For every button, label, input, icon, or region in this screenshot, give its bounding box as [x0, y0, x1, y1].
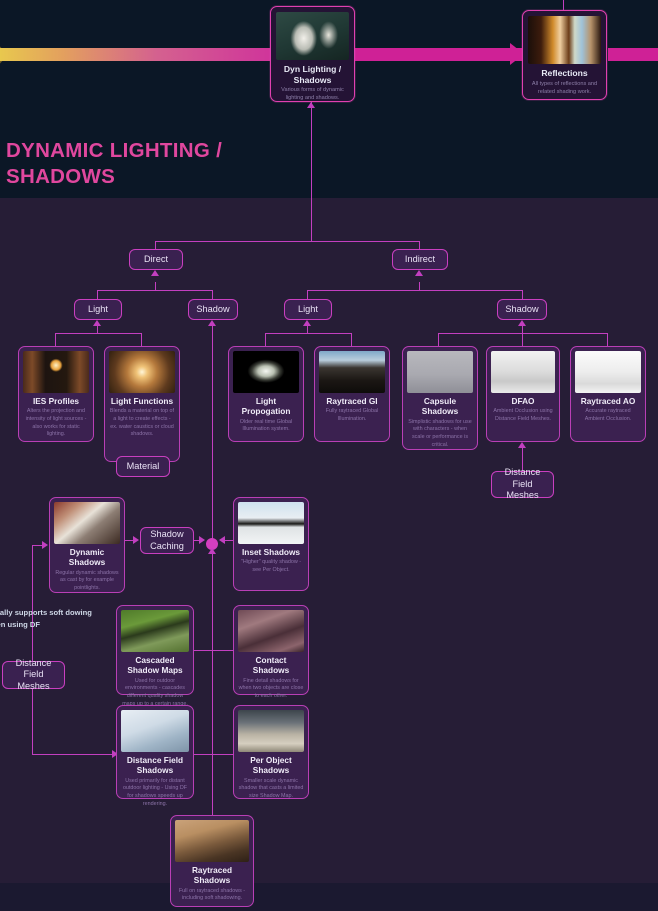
card-title: Per Object Shadows — [238, 755, 304, 776]
card-title: IES Profiles — [23, 396, 89, 406]
card-description: Used for outdoor environments - cascades… — [121, 678, 189, 709]
node-label: Shadow — [505, 304, 538, 316]
card-ies-profiles[interactable]: IES Profiles Alters the projection and i… — [18, 346, 94, 442]
pipeline-segment-outgoing — [608, 48, 658, 61]
card-raytraced-gi[interactable]: Raytraced GI Fully raytraced Global Illu… — [314, 346, 390, 442]
card-description: Alters the projection and intensity of l… — [23, 408, 89, 439]
connector-dl-split — [55, 333, 142, 334]
connector-ies-stem — [55, 333, 56, 346]
card-dynamic-shadows[interactable]: Dynamic Shadows Regular dynamic shadows … — [49, 497, 125, 593]
card-title: Raytraced AO — [575, 396, 641, 406]
node-label: Material — [127, 461, 160, 473]
stage-card-reflections[interactable]: Reflections All types of reflections and… — [522, 10, 607, 100]
card-title: Distance Field Shadows — [121, 755, 189, 776]
card-title: Inset Shadows — [238, 547, 304, 557]
node-indirect-light[interactable]: Light — [284, 299, 332, 320]
connector-il-split — [265, 333, 351, 334]
connector-rtao-stem — [607, 333, 608, 346]
pipeline-segment-incoming — [0, 48, 285, 61]
node-direct-shadow[interactable]: Shadow — [188, 299, 238, 320]
connector-lfn-stem — [141, 333, 142, 346]
contact-shadows-thumb — [238, 610, 304, 652]
node-material[interactable]: Material — [116, 456, 170, 477]
connector-indirect-shadow-stem — [522, 290, 523, 299]
raytraced-shadows-thumb — [175, 820, 249, 862]
dyn-lighting-thumb — [276, 12, 349, 60]
card-title: Raytraced GI — [319, 396, 385, 406]
arrow-up-icon-dot-bottom — [208, 548, 216, 554]
connector-reflections-top — [563, 0, 564, 10]
node-label: Direct — [144, 254, 168, 266]
node-direct[interactable]: Direct — [129, 249, 183, 270]
card-capsule-shadows[interactable]: Capsule Shadows Simplistic shadows for u… — [402, 346, 478, 450]
arrow-left-icon-dot-in — [219, 536, 225, 544]
card-cascaded-shadow-maps[interactable]: Cascaded Shadow Maps Used for outdoor en… — [116, 605, 194, 695]
card-description: Full on raytraced shadows - including so… — [175, 888, 249, 903]
ies-profiles-thumb — [23, 351, 89, 393]
card-inset-shadows[interactable]: Inset Shadows "Higher" quality shadow - … — [233, 497, 309, 591]
dfao-thumb — [491, 351, 555, 393]
arrow-up-icon-direct — [151, 270, 159, 276]
stage-title: Reflections — [528, 68, 601, 79]
card-per-object-shadows[interactable]: Per Object Shadows Smaller scale dynamic… — [233, 705, 309, 799]
dynamic-shadows-thumb — [54, 502, 120, 544]
node-label: Light — [298, 304, 318, 316]
node-label: Light — [88, 304, 108, 316]
node-label: Distance Field Meshes — [496, 467, 549, 502]
page-title: DYNAMIC LIGHTING / SHADOWS — [6, 138, 336, 190]
reflections-thumb — [528, 16, 601, 64]
stage-card-dyn-lighting-shadows[interactable]: Dyn Lighting / Shadows Various forms of … — [270, 6, 355, 102]
connector-indirect-light-stem — [307, 290, 308, 299]
card-distance-field-shadows[interactable]: Distance Field Shadows Used primarily fo… — [116, 705, 194, 799]
card-description: "Higher" quality shadow - see Per Object… — [238, 559, 304, 574]
node-label: Indirect — [405, 254, 435, 266]
node-shadow-caching[interactable]: Shadow Caching — [140, 527, 194, 554]
connector-direct-light-stem — [97, 290, 98, 299]
card-title: DFAO — [491, 396, 555, 406]
background-band-bottom — [0, 883, 658, 911]
arrow-right-icon-caching-in — [133, 536, 139, 544]
connector-direct-branch — [97, 290, 213, 291]
node-label: Shadow — [196, 304, 229, 316]
card-title: Dynamic Shadows — [54, 547, 120, 568]
arrow-right-icon-dynamic-in — [42, 541, 48, 549]
connector-perobj-to-trunk — [212, 754, 234, 755]
per-object-shadows-thumb — [238, 710, 304, 752]
card-description: Simplistic shadows for use with characte… — [407, 419, 473, 450]
diagram-canvas: Dyn Lighting / Shadows Various forms of … — [0, 0, 658, 911]
connector-direct-shadow-stem — [212, 290, 213, 299]
connector-left-feeder-bottom — [32, 754, 116, 755]
card-dfao[interactable]: DFAO Ambient Occlusion using Distance Fi… — [486, 346, 560, 442]
connector-rtgi-stem — [351, 333, 352, 346]
node-indirect[interactable]: Indirect — [392, 249, 448, 270]
connector-contact-to-trunk — [212, 650, 234, 651]
card-light-functions[interactable]: Light Functions Blends a material on top… — [104, 346, 180, 462]
node-label: Distance Field Meshes — [7, 658, 60, 693]
connector-shadow-lower-trunk — [212, 550, 213, 840]
pipeline-segment-middle — [330, 48, 525, 61]
arrow-up-icon-spine — [307, 102, 315, 108]
connector-spine-split — [155, 241, 420, 242]
connector-shadow-trunk — [212, 326, 213, 546]
connector-direct-stem — [155, 241, 156, 249]
stage-title: Dyn Lighting / Shadows — [276, 64, 349, 85]
card-light-propogation[interactable]: Light Propogation Older real time Global… — [228, 346, 304, 442]
capsule-shadows-thumb — [407, 351, 473, 393]
stage-description: Various forms of dynamic lighting and sh… — [276, 87, 349, 103]
connector-indirect-stem — [419, 241, 420, 249]
card-description: Fine detail shadows for when two objects… — [238, 678, 304, 701]
card-title: Light Propogation — [233, 396, 299, 417]
connector-dfs-to-trunk — [194, 754, 213, 755]
card-description: Fully raytraced Global Illumination. — [319, 408, 385, 423]
card-description: Accurate raytraced Ambient Occlusion. — [575, 408, 641, 423]
arrow-up-icon-indirect — [415, 270, 423, 276]
card-title: Light Functions — [109, 396, 175, 406]
inset-shadows-thumb — [238, 502, 304, 544]
card-description: Ambient Occlusion using Distance Field M… — [491, 408, 555, 423]
connector-capsule-stem — [438, 333, 439, 346]
cascaded-shadow-maps-thumb — [121, 610, 189, 652]
connector-dfao-stem — [522, 333, 523, 346]
card-title: Cascaded Shadow Maps — [121, 655, 189, 676]
node-indirect-shadow[interactable]: Shadow — [497, 299, 547, 320]
connector-csm-to-trunk — [194, 650, 213, 651]
card-description: Used primarily for distant outdoor light… — [121, 778, 189, 809]
arrow-right-icon-dot-in — [199, 536, 205, 544]
card-description: Older real time Global Illumination syst… — [233, 419, 299, 434]
light-propogation-thumb — [233, 351, 299, 393]
light-functions-thumb — [109, 351, 175, 393]
card-contact-shadows[interactable]: Contact Shadows Fine detail shadows for … — [233, 605, 309, 695]
card-title: Capsule Shadows — [407, 396, 473, 417]
node-label: Shadow Caching — [145, 529, 189, 552]
connector-left-feeder — [32, 545, 33, 755]
soft-shadow-note: tionally supports soft dowing when using… — [0, 607, 106, 631]
card-description: Smaller scale dynamic shadow that casts … — [238, 778, 304, 801]
card-description: Regular dynamic shadows as cast by for e… — [54, 570, 120, 593]
card-title: Raytraced Shadows — [175, 865, 249, 886]
connector-lprop-stem — [265, 333, 266, 346]
node-distance-field-meshes-left[interactable]: Distance Field Meshes — [2, 661, 65, 689]
node-direct-light[interactable]: Light — [74, 299, 122, 320]
connector-indirect-branch — [307, 290, 523, 291]
connector-spine-main — [311, 102, 312, 242]
stage-description: All types of reflections and related sha… — [528, 81, 601, 97]
distance-field-shadows-thumb — [121, 710, 189, 752]
card-raytraced-shadows[interactable]: Raytraced Shadows Full on raytraced shad… — [170, 815, 254, 907]
raytraced-gi-thumb — [319, 351, 385, 393]
card-title: Contact Shadows — [238, 655, 304, 676]
node-distance-field-meshes-right[interactable]: Distance Field Meshes — [491, 471, 554, 498]
card-raytraced-ao[interactable]: Raytraced AO Accurate raytraced Ambient … — [570, 346, 646, 442]
raytraced-ao-thumb — [575, 351, 641, 393]
card-description: Blends a material on top of a light to c… — [109, 408, 175, 439]
